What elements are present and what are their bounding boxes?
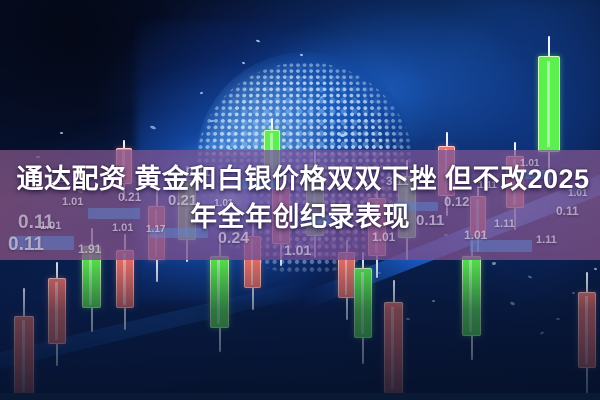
band-number: 0.11 [556,204,579,218]
banner-image: 0.110.111.011.011.111.910.211.011.170.11… [0,0,600,400]
band-number: 1.01 [62,196,83,208]
band-number: 1.01 [372,230,395,244]
band-number: 1.01 [464,228,487,242]
candle-sheen [547,61,550,147]
band-bar [516,170,556,179]
dark-floor-overlay [0,250,600,400]
band-number: 1.01 [40,220,61,232]
band-number: 1.11 [478,180,497,191]
band-number: 1.11 [494,218,515,230]
band-bar [300,216,350,226]
bottom-edge-strip [0,393,600,400]
band-number: 1.11 [48,174,67,185]
band-number: 0.21 [118,190,141,204]
candle-body-up [538,56,560,152]
band-number: 0.11 [8,234,44,256]
band-number: 1.11 [330,168,349,179]
band-number: 1.01 [520,158,539,169]
band-number: 0.12 [444,194,469,209]
band-bar [236,180,280,189]
band-number: 1.01 [568,188,587,199]
band-number: 1.11 [536,234,557,246]
band-number: 1.17 [146,224,165,235]
data-number-band: 0.110.111.011.011.111.910.211.011.170.11… [0,150,600,260]
band-bar [88,208,140,219]
band-number: 1.91 [78,242,101,256]
band-bar [392,202,438,211]
band-number: 0.11 [186,164,211,179]
band-number: 3.11 [386,174,409,188]
band-number: 1.01 [112,222,133,234]
band-number: 1.01 [284,242,311,258]
band-number: 0.24 [218,230,249,248]
band-number: 0.21 [168,192,197,209]
band-number: 0.11 [416,212,444,229]
band-number: 1.01 [214,198,233,209]
